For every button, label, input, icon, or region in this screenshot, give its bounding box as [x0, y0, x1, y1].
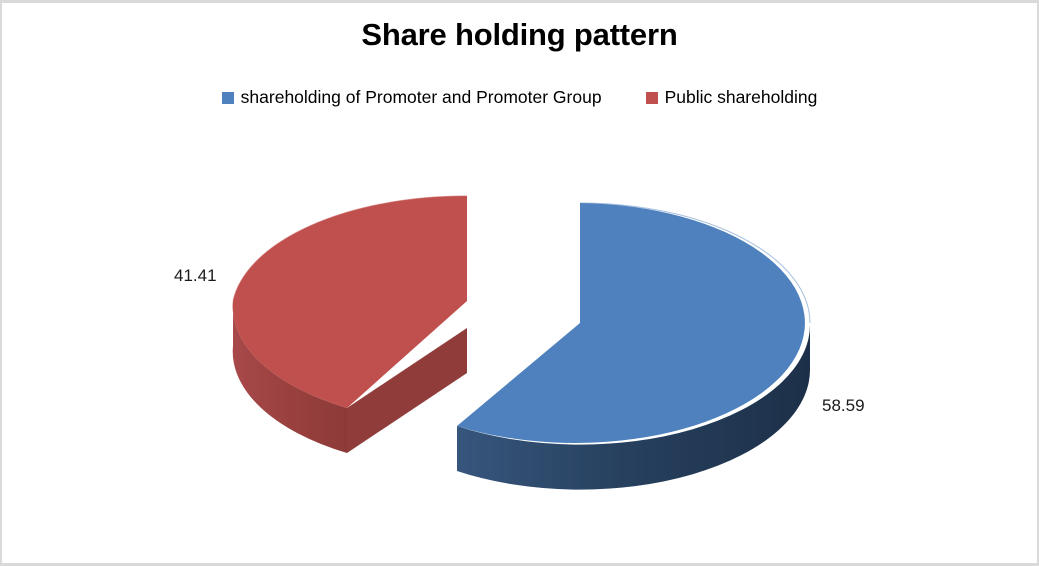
slice-value-label-public: 41.41	[174, 266, 217, 286]
pie-chart-svg	[2, 3, 1037, 563]
pie-chart-plot-area: 41.41 58.59	[2, 3, 1037, 563]
slice-value-label-promoter: 58.59	[822, 396, 865, 416]
chart-frame: Share holding pattern shareholding of Pr…	[0, 0, 1039, 566]
